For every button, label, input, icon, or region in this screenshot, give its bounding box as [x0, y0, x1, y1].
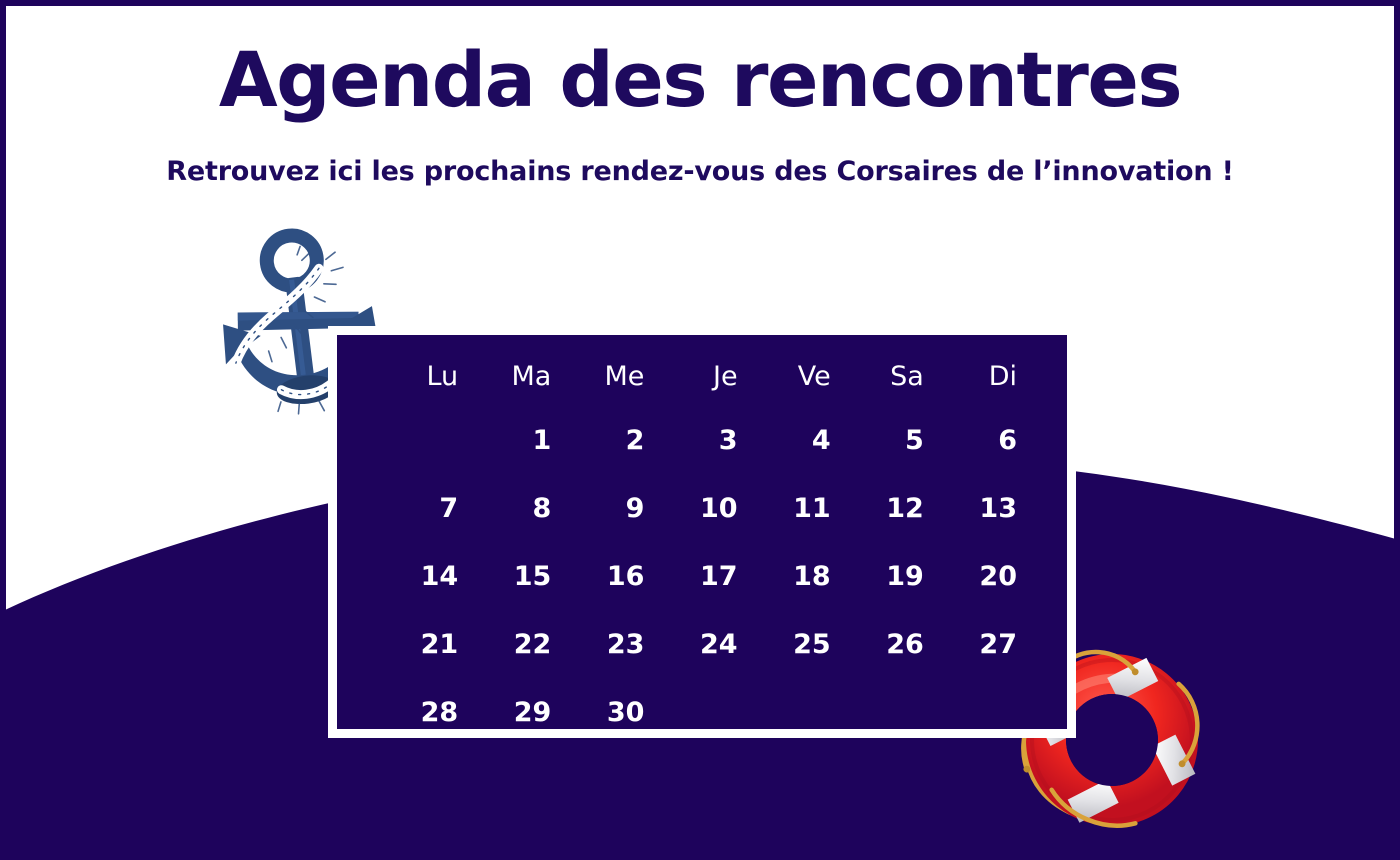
day-cell[interactable]: 29 — [464, 678, 557, 746]
day-cell[interactable]: 9 — [557, 474, 650, 542]
calendar-panel: Lu Ma Me Je Ve Sa Di 1 2 3 — [337, 335, 1067, 729]
day-cell[interactable]: 25 — [744, 610, 837, 678]
poster-page: Agenda des rencontres Retrouvez ici les … — [0, 0, 1400, 860]
day-cell[interactable]: 5 — [837, 406, 930, 474]
day-cell[interactable]: 15 — [464, 542, 557, 610]
day-cell[interactable]: 2 — [557, 406, 650, 474]
day-cell — [930, 678, 1023, 746]
day-cell[interactable]: 26 — [837, 610, 930, 678]
day-cell[interactable]: 21 — [371, 610, 464, 678]
weekday-header-sa: Sa — [837, 361, 930, 406]
day-cell[interactable]: 10 — [650, 474, 743, 542]
day-cell[interactable]: 23 — [557, 610, 650, 678]
calendar-week-row: 28 29 30 — [371, 678, 1023, 746]
heading-block: Agenda des rencontres Retrouvez ici les … — [6, 40, 1394, 187]
weekday-header-ma: Ma — [464, 361, 557, 406]
calendar-week-row: 14 15 16 17 18 19 20 — [371, 542, 1023, 610]
day-cell — [371, 406, 464, 474]
calendar-grid: Lu Ma Me Je Ve Sa Di 1 2 3 — [371, 361, 1023, 746]
calendar-week-row: 1 2 3 4 5 6 — [371, 406, 1023, 474]
day-cell[interactable]: 20 — [930, 542, 1023, 610]
day-cell — [650, 678, 743, 746]
day-cell[interactable]: 8 — [464, 474, 557, 542]
day-cell[interactable]: 4 — [744, 406, 837, 474]
day-cell[interactable]: 18 — [744, 542, 837, 610]
day-cell[interactable]: 27 — [930, 610, 1023, 678]
weekday-header-lu: Lu — [371, 361, 464, 406]
day-cell — [837, 678, 930, 746]
day-cell[interactable]: 16 — [557, 542, 650, 610]
weekday-header-di: Di — [930, 361, 1023, 406]
page-title: Agenda des rencontres — [6, 40, 1394, 120]
calendar-week-row: 7 8 9 10 11 12 13 — [371, 474, 1023, 542]
day-cell[interactable]: 13 — [930, 474, 1023, 542]
day-cell[interactable]: 12 — [837, 474, 930, 542]
day-cell — [744, 678, 837, 746]
day-cell[interactable]: 30 — [557, 678, 650, 746]
calendar-card: Lu Ma Me Je Ve Sa Di 1 2 3 — [328, 326, 1076, 738]
day-cell[interactable]: 22 — [464, 610, 557, 678]
weekday-header-row: Lu Ma Me Je Ve Sa Di — [371, 361, 1023, 406]
day-cell[interactable]: 24 — [650, 610, 743, 678]
day-cell[interactable]: 6 — [930, 406, 1023, 474]
weekday-header-ve: Ve — [744, 361, 837, 406]
weekday-header-je: Je — [650, 361, 743, 406]
calendar-week-row: 21 22 23 24 25 26 27 — [371, 610, 1023, 678]
day-cell[interactable]: 11 — [744, 474, 837, 542]
day-cell[interactable]: 14 — [371, 542, 464, 610]
day-cell[interactable]: 17 — [650, 542, 743, 610]
page-subtitle: Retrouvez ici les prochains rendez-vous … — [6, 156, 1394, 187]
day-cell[interactable]: 28 — [371, 678, 464, 746]
day-cell[interactable]: 19 — [837, 542, 930, 610]
day-cell[interactable]: 1 — [464, 406, 557, 474]
day-cell[interactable]: 7 — [371, 474, 464, 542]
weekday-header-me: Me — [557, 361, 650, 406]
day-cell[interactable]: 3 — [650, 406, 743, 474]
